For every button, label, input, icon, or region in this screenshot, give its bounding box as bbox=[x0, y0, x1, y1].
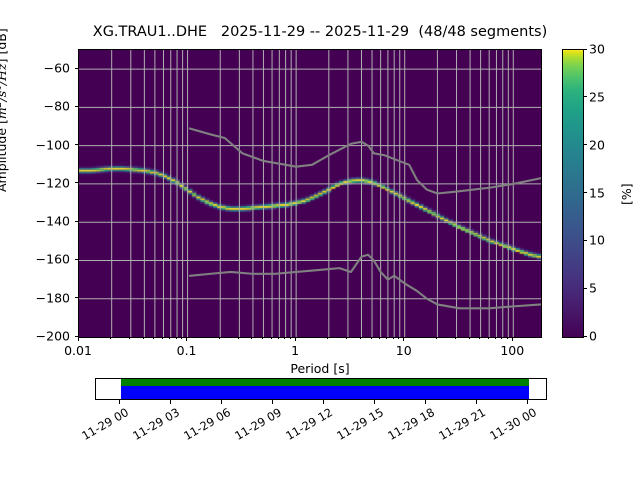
y-tick-mark bbox=[75, 182, 79, 183]
x-tick-mark bbox=[436, 337, 437, 339]
ppsd-plot-area[interactable] bbox=[78, 49, 542, 338]
timeline-tick-label: 11-30 00 bbox=[487, 405, 539, 443]
y-tick-mark bbox=[75, 221, 79, 222]
colorbar-tick-label: 5 bbox=[589, 281, 597, 296]
timeline-tick-mark bbox=[119, 400, 120, 404]
x-tick-mark bbox=[398, 337, 399, 339]
colorbar-tick-mark bbox=[583, 144, 587, 145]
x-tick-mark bbox=[219, 337, 220, 339]
timeline-tick-mark bbox=[323, 400, 324, 404]
colorbar-tick-mark bbox=[583, 288, 587, 289]
y-tick-label: −100 bbox=[0, 137, 70, 152]
x-tick-mark bbox=[507, 337, 508, 339]
timeline-tick-label: 11-29 09 bbox=[232, 405, 284, 443]
figure-canvas: XG.TRAU1..DHE 2025-11-29 -- 2025-11-29 (… bbox=[0, 0, 640, 480]
y-tick-mark bbox=[75, 259, 79, 260]
timeline-tick-mark bbox=[272, 400, 273, 404]
y-tick-mark bbox=[75, 68, 79, 69]
colorbar-tick-label: 0 bbox=[589, 329, 597, 344]
colorbar-tick-label: 20 bbox=[589, 137, 605, 152]
x-tick-mark bbox=[251, 337, 252, 339]
x-tick-mark bbox=[379, 337, 380, 339]
timeline-tick-label: 11-29 03 bbox=[130, 405, 182, 443]
x-tick-mark bbox=[262, 337, 263, 339]
x-tick-mark bbox=[371, 337, 372, 339]
x-tick-mark bbox=[403, 337, 404, 341]
coverage-bar-blue bbox=[121, 386, 529, 399]
timeline-tick-mark bbox=[374, 400, 375, 404]
colorbar-tick-mark bbox=[583, 49, 587, 50]
timeline-tick-label: 11-29 18 bbox=[385, 405, 437, 443]
x-tick-mark bbox=[271, 337, 272, 339]
x-tick-mark bbox=[238, 337, 239, 339]
colorbar-tick-label: 30 bbox=[589, 42, 605, 57]
timeline-tick-label: 11-29 06 bbox=[181, 405, 233, 443]
x-tick-mark bbox=[501, 337, 502, 339]
coverage-bar-green bbox=[121, 379, 529, 386]
x-tick-mark bbox=[110, 337, 111, 339]
y-tick-label: −80 bbox=[0, 99, 70, 114]
colorbar-tick-label: 25 bbox=[589, 89, 605, 104]
y-tick-label: −180 bbox=[0, 290, 70, 305]
timeline-tick-mark bbox=[476, 400, 477, 404]
x-tick-label: 1 bbox=[291, 343, 299, 358]
x-tick-mark bbox=[284, 337, 285, 339]
x-tick-mark bbox=[169, 337, 170, 339]
data-coverage-timeline[interactable] bbox=[95, 378, 547, 400]
colorbar-tick-mark bbox=[583, 336, 587, 337]
x-tick-mark bbox=[393, 337, 394, 339]
x-tick-mark bbox=[327, 337, 328, 339]
x-tick-mark bbox=[495, 337, 496, 339]
y-tick-mark bbox=[75, 297, 79, 298]
timeline-tick-label: 11-29 00 bbox=[79, 405, 131, 443]
x-tick-mark bbox=[488, 337, 489, 339]
colorbar-gradient bbox=[563, 50, 583, 337]
x-tick-mark bbox=[455, 337, 456, 339]
noise-model-curves bbox=[79, 50, 541, 337]
colorbar-tick-mark bbox=[583, 96, 587, 97]
x-tick-mark bbox=[129, 337, 130, 339]
colorbar-tick-label: 10 bbox=[589, 233, 605, 248]
y-tick-label: −140 bbox=[0, 214, 70, 229]
x-tick-mark bbox=[181, 337, 182, 339]
x-tick-mark bbox=[176, 337, 177, 339]
x-tick-mark bbox=[290, 337, 291, 339]
colorbar-tick-mark bbox=[583, 240, 587, 241]
timeline-tick-mark bbox=[527, 400, 528, 404]
x-tick-mark bbox=[186, 337, 187, 341]
x-tick-mark bbox=[153, 337, 154, 339]
colorbar[interactable] bbox=[562, 49, 584, 338]
x-tick-mark bbox=[512, 337, 513, 341]
page-title: XG.TRAU1..DHE 2025-11-29 -- 2025-11-29 (… bbox=[0, 24, 640, 40]
y-tick-label: −120 bbox=[0, 175, 70, 190]
x-axis-label: Period [s] bbox=[0, 361, 640, 376]
x-tick-mark bbox=[469, 337, 470, 339]
colorbar-tick-mark bbox=[583, 192, 587, 193]
y-tick-mark bbox=[75, 144, 79, 145]
x-tick-mark bbox=[162, 337, 163, 339]
x-tick-mark bbox=[278, 337, 279, 339]
x-tick-mark bbox=[479, 337, 480, 339]
timeline-tick-label: 11-29 15 bbox=[334, 405, 386, 443]
timeline-tick-mark bbox=[170, 400, 171, 404]
colorbar-label: [%] bbox=[619, 183, 634, 205]
y-tick-label: −60 bbox=[0, 61, 70, 76]
x-tick-label: 0.1 bbox=[177, 343, 197, 358]
x-tick-mark bbox=[78, 337, 79, 341]
timeline-tick-mark bbox=[425, 400, 426, 404]
x-tick-mark bbox=[360, 337, 361, 339]
colorbar-tick-label: 15 bbox=[589, 185, 605, 200]
x-tick-mark bbox=[295, 337, 296, 341]
x-tick-mark bbox=[346, 337, 347, 339]
x-tick-label: 10 bbox=[396, 343, 412, 358]
x-tick-label: 100 bbox=[500, 343, 524, 358]
y-tick-label: −160 bbox=[0, 252, 70, 267]
timeline-tick-label: 11-29 12 bbox=[283, 405, 335, 443]
x-tick-label: 0.01 bbox=[64, 343, 92, 358]
y-tick-label: −200 bbox=[0, 329, 70, 344]
timeline-tick-mark bbox=[221, 400, 222, 404]
y-tick-mark bbox=[75, 106, 79, 107]
x-tick-mark bbox=[386, 337, 387, 339]
timeline-tick-label: 11-29 21 bbox=[436, 405, 488, 443]
x-tick-mark bbox=[143, 337, 144, 339]
